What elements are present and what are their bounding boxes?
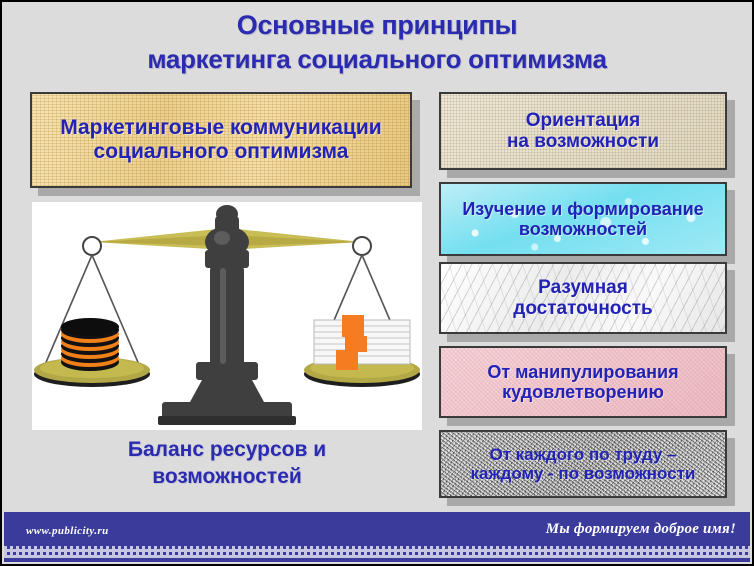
principle-box-study-formation[interactable]: Изучение и формирование возможностей <box>439 182 727 256</box>
paper-stack <box>314 315 410 370</box>
headline-line-2: социального оптимизма <box>94 140 349 164</box>
principle-2-line-2: возможностей <box>519 219 647 239</box>
principle-4-line-2: кудовлетворению <box>502 382 664 402</box>
principle-5-line-1: От каждого по труду – <box>490 445 677 464</box>
principle-3-line-1: Разумная <box>538 277 628 298</box>
principle-box-orientation[interactable]: Ориентация на возможности <box>439 92 727 170</box>
footer-url[interactable]: www.publicity.ru <box>26 525 109 537</box>
right-hanger-ring <box>353 237 371 255</box>
footer-slogan: Мы формируем доброе имя! <box>546 521 736 538</box>
left-hanger-ring <box>83 237 101 255</box>
caption-line-2: возможностей <box>32 463 422 490</box>
principle-4-line-1: От манипулирования <box>487 362 678 382</box>
principle-1-line-1: Ориентация <box>526 110 640 131</box>
principle-box-reasonable-sufficiency[interactable]: Разумная достаточность <box>439 262 727 334</box>
marketing-communications-box[interactable]: Маркетинговые коммуникации социального о… <box>30 92 412 188</box>
title-line-1: Основные принципы <box>2 8 752 42</box>
principle-1-line-2: на возможности <box>507 131 659 152</box>
picture-caption: Баланс ресурсов и возможностей <box>32 436 422 490</box>
footer-bar: www.publicity.ru Мы формируем доброе имя… <box>4 512 750 562</box>
balance-scale-illustration <box>32 202 422 430</box>
slide: Основные принципы маркетинга социального… <box>0 0 754 566</box>
title-line-2: маркетинга социального оптимизма <box>2 42 752 76</box>
caption-line-1: Баланс ресурсов и <box>32 436 422 463</box>
page-title: Основные принципы маркетинга социального… <box>2 8 752 76</box>
principle-5-line-2: каждому - по возможности <box>471 464 696 483</box>
principle-3-line-2: достаточность <box>513 298 652 319</box>
headline-line-1: Маркетинговые коммуникации <box>60 116 381 140</box>
principle-2-line-1: Изучение и формирование <box>462 199 703 219</box>
footer-dotted-pattern <box>4 546 750 558</box>
coin-stack <box>61 318 119 371</box>
balance-scale-svg <box>32 202 422 430</box>
principle-box-manipulation-satisfaction[interactable]: От манипулирования кудовлетворению <box>439 346 727 418</box>
principle-box-from-each-by-labour[interactable]: От каждого по труду – каждому - по возмо… <box>439 430 727 498</box>
